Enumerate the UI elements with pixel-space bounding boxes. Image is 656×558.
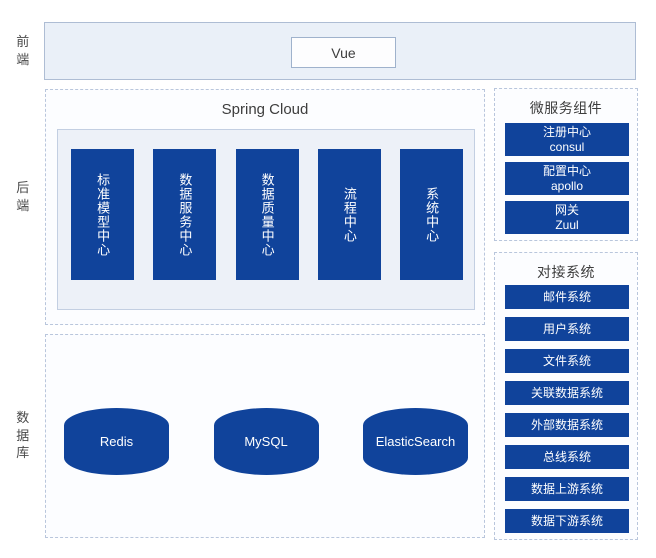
- microservice-panel-list: 注册中心 consul 配置中心 apollo 网关 Zuul: [505, 123, 629, 240]
- integration-item-downstream-data[interactable]: 数据下游系统: [505, 509, 629, 533]
- integration-item-linked-data-label: 关联数据系统: [531, 386, 603, 401]
- microservice-item-registry[interactable]: 注册中心 consul: [505, 123, 629, 156]
- service-center-process[interactable]: 流程中心: [318, 149, 381, 280]
- microservice-item-config-line1: 配置中心: [543, 164, 591, 179]
- row-label-frontend: 前 端: [8, 33, 38, 68]
- service-center-system-label: 系统中心: [424, 187, 439, 243]
- service-center-data-service[interactable]: 数据服务中心: [153, 149, 216, 280]
- backend-layer-container: Spring Cloud 标准模型中心 数据服务中心 数据质量中心 流程中心 系…: [45, 89, 485, 325]
- row-label-backend-char-1: 后: [8, 179, 38, 197]
- service-center-standard-model[interactable]: 标准模型中心: [71, 149, 134, 280]
- row-label-frontend-char-2: 端: [8, 51, 38, 69]
- database-cylinder-mysql[interactable]: MySQL: [214, 408, 319, 475]
- row-label-database: 数 据 库: [8, 409, 38, 462]
- integration-item-mail-label: 邮件系统: [543, 290, 591, 305]
- integration-item-file-label: 文件系统: [543, 354, 591, 369]
- service-center-system[interactable]: 系统中心: [400, 149, 463, 280]
- database-cylinder-elasticsearch[interactable]: ElasticSearch: [363, 408, 468, 475]
- vue-node[interactable]: Vue: [291, 37, 396, 68]
- integration-item-user-label: 用户系统: [543, 322, 591, 337]
- service-center-data-service-label: 数据服务中心: [177, 173, 192, 257]
- architecture-diagram: 前 端 后 端 数 据 库 Vue Spring Cloud 标准模型中心 数据…: [0, 0, 656, 558]
- service-center-standard-model-label: 标准模型中心: [95, 173, 110, 257]
- row-label-backend-char-2: 端: [8, 197, 38, 215]
- service-center-data-quality-label: 数据质量中心: [259, 173, 274, 257]
- service-center-data-quality[interactable]: 数据质量中心: [236, 149, 299, 280]
- integration-item-upstream-data[interactable]: 数据上游系统: [505, 477, 629, 501]
- integration-item-bus[interactable]: 总线系统: [505, 445, 629, 469]
- integration-panel-title: 对接系统: [495, 262, 637, 282]
- microservice-component-panel: 微服务组件 注册中心 consul 配置中心 apollo 网关 Zuul: [494, 88, 638, 241]
- integration-panel-list: 邮件系统 用户系统 文件系统 关联数据系统 外部数据系统 总线系统 数据上游系统: [505, 285, 629, 541]
- microservice-item-gateway[interactable]: 网关 Zuul: [505, 201, 629, 234]
- integration-item-mail[interactable]: 邮件系统: [505, 285, 629, 309]
- database-cylinder-mysql-label: MySQL: [244, 434, 287, 449]
- row-label-backend: 后 端: [8, 179, 38, 214]
- integration-item-file[interactable]: 文件系统: [505, 349, 629, 373]
- integration-item-external-data[interactable]: 外部数据系统: [505, 413, 629, 437]
- microservice-item-gateway-line1: 网关: [555, 203, 579, 218]
- integration-item-user[interactable]: 用户系统: [505, 317, 629, 341]
- integration-item-bus-label: 总线系统: [543, 450, 591, 465]
- vue-node-label: Vue: [331, 45, 355, 61]
- microservice-item-registry-line2: consul: [550, 140, 585, 155]
- integration-system-panel: 对接系统 邮件系统 用户系统 文件系统 关联数据系统 外部数据系统 总线系统 数…: [494, 252, 638, 540]
- service-center-row: 标准模型中心 数据服务中心 数据质量中心 流程中心 系统中心: [71, 149, 463, 280]
- spring-cloud-inner-panel: 标准模型中心 数据服务中心 数据质量中心 流程中心 系统中心: [57, 129, 475, 310]
- microservice-item-config[interactable]: 配置中心 apollo: [505, 162, 629, 195]
- spring-cloud-title: Spring Cloud: [46, 101, 484, 118]
- database-layer-container: Redis MySQL ElasticSearch: [45, 334, 485, 538]
- integration-item-downstream-data-label: 数据下游系统: [531, 514, 603, 529]
- microservice-panel-title: 微服务组件: [495, 98, 637, 118]
- database-cylinder-elasticsearch-label: ElasticSearch: [376, 434, 455, 449]
- database-cylinder-row: Redis MySQL ElasticSearch: [64, 408, 468, 475]
- integration-item-upstream-data-label: 数据上游系统: [531, 482, 603, 497]
- row-label-database-char-1: 数: [8, 409, 38, 427]
- database-cylinder-redis-label: Redis: [100, 434, 133, 449]
- microservice-item-gateway-line2: Zuul: [555, 218, 578, 233]
- microservice-item-config-line2: apollo: [551, 179, 583, 194]
- row-label-database-char-2: 据: [8, 427, 38, 445]
- row-label-database-char-3: 库: [8, 444, 38, 462]
- integration-item-external-data-label: 外部数据系统: [531, 418, 603, 433]
- row-label-frontend-char-1: 前: [8, 33, 38, 51]
- integration-item-linked-data[interactable]: 关联数据系统: [505, 381, 629, 405]
- database-cylinder-redis[interactable]: Redis: [64, 408, 169, 475]
- service-center-process-label: 流程中心: [342, 187, 357, 243]
- frontend-layer-band: Vue: [44, 22, 636, 80]
- microservice-item-registry-line1: 注册中心: [543, 125, 591, 140]
